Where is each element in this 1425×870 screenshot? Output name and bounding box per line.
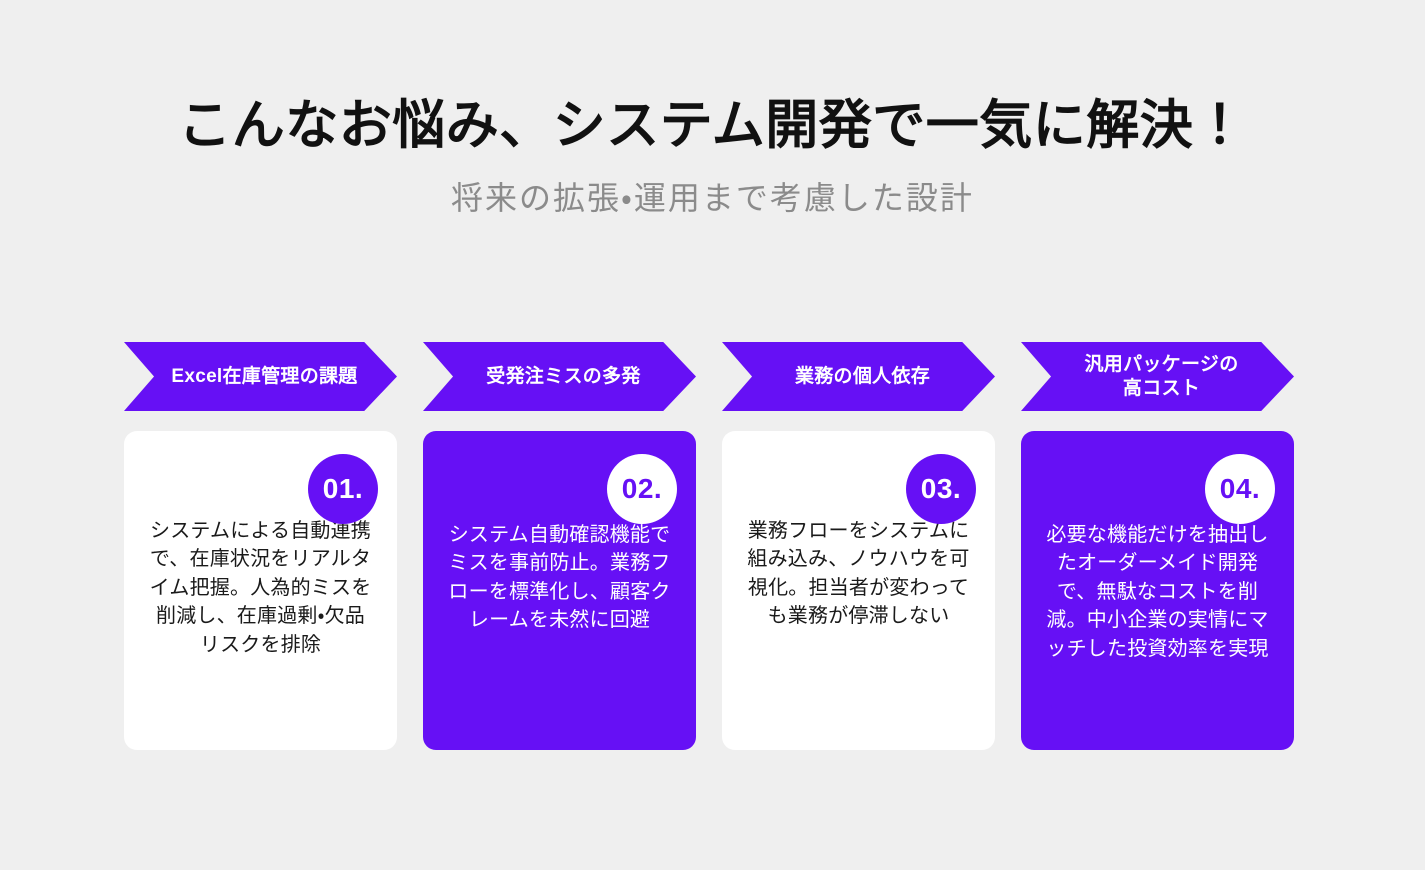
card-body-1: システムによる自動連携で、在庫状況をリアルタイム把握。人為的ミスを削減し、在庫過… bbox=[146, 517, 375, 659]
ribbon-banner-1: Excel在庫管理の課題 bbox=[124, 342, 397, 411]
problem-solution-columns: Excel在庫管理の課題 01. システムによる自動連携で、在庫状況をリアルタイ… bbox=[124, 342, 1301, 750]
slide-root: こんなお悩み、システム開発で一気に解決！ 将来の拡張・運用まで考慮した設計 Ex… bbox=[0, 0, 1425, 870]
ribbon-label-3: 業務の個人依存 bbox=[795, 365, 930, 389]
ribbon-label-1: Excel在庫管理の課題 bbox=[171, 365, 357, 389]
column-3: 業務の個人依存 03. 業務フローをシステムに組み込み、ノウハウを可視化。担当者… bbox=[722, 342, 995, 750]
solution-card-3: 03. 業務フローをシステムに組み込み、ノウハウを可視化。担当者が変わっても業務… bbox=[722, 431, 995, 750]
page-title: こんなお悩み、システム開発で一気に解決！ bbox=[0, 96, 1425, 157]
step-badge-1: 01. bbox=[308, 454, 378, 524]
column-4: 汎用パッケージの 高コスト 04. 必要な機能だけを抽出したオーダーメイド開発で… bbox=[1021, 342, 1294, 750]
solution-card-1: 01. システムによる自動連携で、在庫状況をリアルタイム把握。人為的ミスを削減し… bbox=[124, 431, 397, 750]
solution-card-4: 04. 必要な機能だけを抽出したオーダーメイド開発で、無駄なコストを削減。中小企… bbox=[1021, 431, 1294, 750]
ribbon-banner-3: 業務の個人依存 bbox=[722, 342, 995, 411]
column-2: 受発注ミスの多発 02. システム自動確認機能でミスを事前防止。業務フローを標準… bbox=[423, 342, 696, 750]
page-subtitle: 将来の拡張・運用まで考慮した設計 bbox=[0, 179, 1425, 217]
ribbon-label-4: 汎用パッケージの 高コスト bbox=[1084, 353, 1238, 401]
ribbon-banner-4: 汎用パッケージの 高コスト bbox=[1021, 342, 1294, 411]
step-badge-2: 02. bbox=[607, 454, 677, 524]
solution-card-2: 02. システム自動確認機能でミスを事前防止。業務フローを標準化し、顧客クレーム… bbox=[423, 431, 696, 750]
column-1: Excel在庫管理の課題 01. システムによる自動連携で、在庫状況をリアルタイ… bbox=[124, 342, 397, 750]
card-body-4: 必要な機能だけを抽出したオーダーメイド開発で、無駄なコストを削減。中小企業の実情… bbox=[1043, 517, 1272, 663]
card-body-2: システム自動確認機能でミスを事前防止。業務フローを標準化し、顧客クレームを未然に… bbox=[445, 517, 674, 635]
header: こんなお悩み、システム開発で一気に解決！ 将来の拡張・運用まで考慮した設計 bbox=[0, 96, 1425, 217]
ribbon-banner-2: 受発注ミスの多発 bbox=[423, 342, 696, 411]
card-body-3: 業務フローをシステムに組み込み、ノウハウを可視化。担当者が変わっても業務が停滞し… bbox=[744, 517, 973, 631]
step-badge-4: 04. bbox=[1205, 454, 1275, 524]
step-badge-3: 03. bbox=[906, 454, 976, 524]
ribbon-label-2: 受発注ミスの多発 bbox=[486, 365, 640, 389]
